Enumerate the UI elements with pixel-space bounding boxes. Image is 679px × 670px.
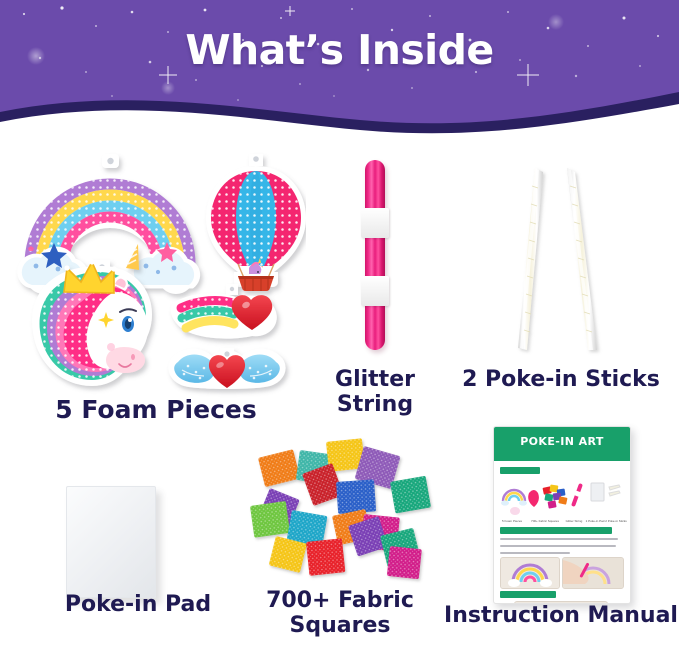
manual-step-line-1 — [500, 538, 618, 540]
floss-band-upper — [361, 208, 389, 238]
instruction-manual-illustration: POKE-IN ART — [493, 426, 631, 604]
sticks-shape — [505, 160, 625, 360]
manual-content-label-4: 2 Poke-in Sticks — [604, 519, 628, 523]
poke-in-sticks-illustration — [505, 160, 625, 360]
manual-steps-bar — [500, 527, 612, 534]
infographic-page: What’s Inside — [0, 0, 679, 670]
manual-content-label-0: 5 Foam Pieces — [498, 519, 526, 523]
manual-contents-icons — [499, 479, 625, 519]
label-instruction-manual: Instruction Manual — [443, 604, 679, 629]
manual-step3-bar — [500, 591, 556, 598]
item-instruction-manual: POKE-IN ART — [443, 418, 679, 670]
manual-content-label-3: 1 Poke-in Pad — [584, 519, 606, 523]
header-banner: What’s Inside — [0, 0, 679, 142]
item-fabric-squares: 700+ Fabric Squares — [230, 426, 450, 670]
glitter-string-illustration — [362, 160, 388, 350]
foam-piece-shooting-star — [171, 284, 277, 339]
items-grid: 5 Foam Pieces Glitter String — [0, 142, 679, 670]
poke-in-pad-illustration — [66, 486, 156, 598]
item-foam-pieces: 5 Foam Pieces — [6, 142, 306, 438]
manual-step-line-3 — [500, 552, 570, 554]
label-foam-pieces: 5 Foam Pieces — [6, 396, 306, 424]
floss-hank — [365, 160, 385, 350]
label-poke-in-sticks: 2 Poke-in Sticks — [443, 368, 679, 393]
label-glitter-string: Glitter String — [305, 368, 445, 417]
foam-pieces-illustration — [6, 142, 306, 398]
manual-step-line-2 — [500, 545, 616, 547]
manual-section-bar — [500, 467, 540, 474]
foam-piece-winged-heart — [168, 348, 285, 389]
manual-content-label-1: 700+ Fabric Squares — [530, 519, 560, 523]
manual-logo: POKE-IN ART — [494, 435, 630, 448]
label-fabric-squares: 700+ Fabric Squares — [230, 589, 450, 638]
floss-band-lower — [361, 276, 389, 306]
manual-content-label-2: Glitter String — [562, 519, 586, 523]
manual-photo-step2 — [562, 557, 624, 589]
item-glitter-string: Glitter String — [305, 142, 445, 438]
page-title: What’s Inside — [0, 26, 679, 74]
manual-photo-step1 — [500, 557, 560, 589]
item-poke-in-sticks: 2 Poke-in Sticks — [443, 142, 679, 438]
foam-piece-balloon — [206, 154, 306, 291]
fabric-squares-illustration — [240, 430, 440, 590]
